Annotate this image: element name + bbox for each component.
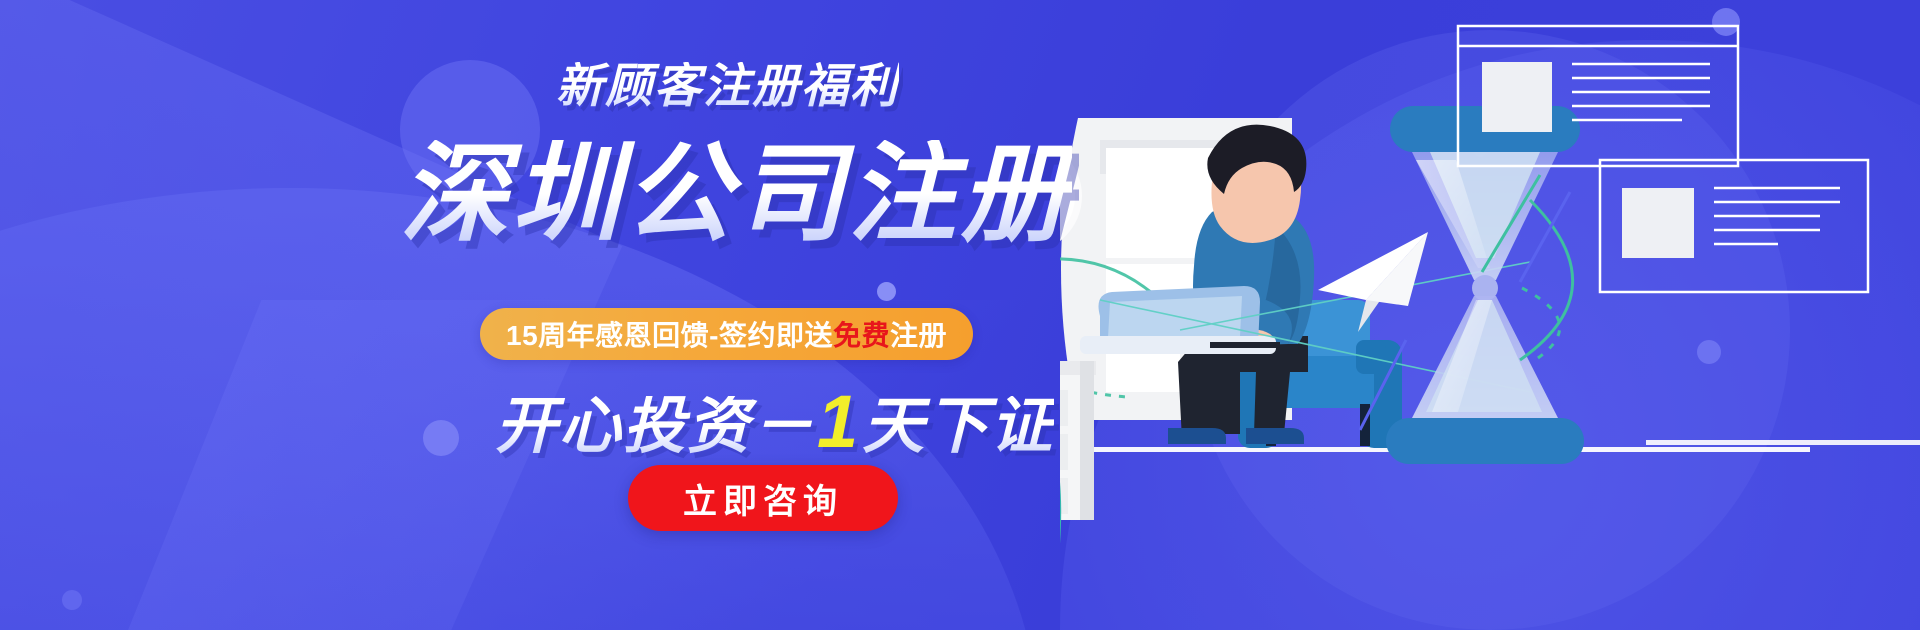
eyebrow-text: 新顾客注册福利: [556, 62, 899, 109]
hero-illustration: [1060, 0, 1920, 630]
subheadline-tail: 天下证: [862, 396, 1054, 458]
offer-badge: 15周年感恩回馈-签约即送免费注册: [480, 308, 973, 360]
offer-badge-suffix: 注册: [890, 314, 947, 354]
consult-now-button[interactable]: 立即咨询: [628, 465, 898, 531]
subheadline-number: 1: [817, 385, 860, 459]
page-title: 深圳公司注册: [400, 140, 1072, 248]
subheadline-lead: 开心投资－: [495, 396, 815, 458]
subheadline: 开心投资－1天下证: [495, 385, 1054, 459]
promo-banner: 新顾客注册福利 深圳公司注册 15周年感恩回馈-签约即送免费注册 开心投资－1天…: [0, 0, 1920, 630]
offer-badge-highlight: 免费: [833, 314, 890, 354]
copy-block: 新顾客注册福利 深圳公司注册 15周年感恩回馈-签约即送免费注册 开心投资－1天…: [0, 0, 1080, 630]
ground-line-right: [1646, 440, 1920, 445]
offer-badge-prefix: 15周年感恩回馈-签约即送: [506, 314, 833, 354]
